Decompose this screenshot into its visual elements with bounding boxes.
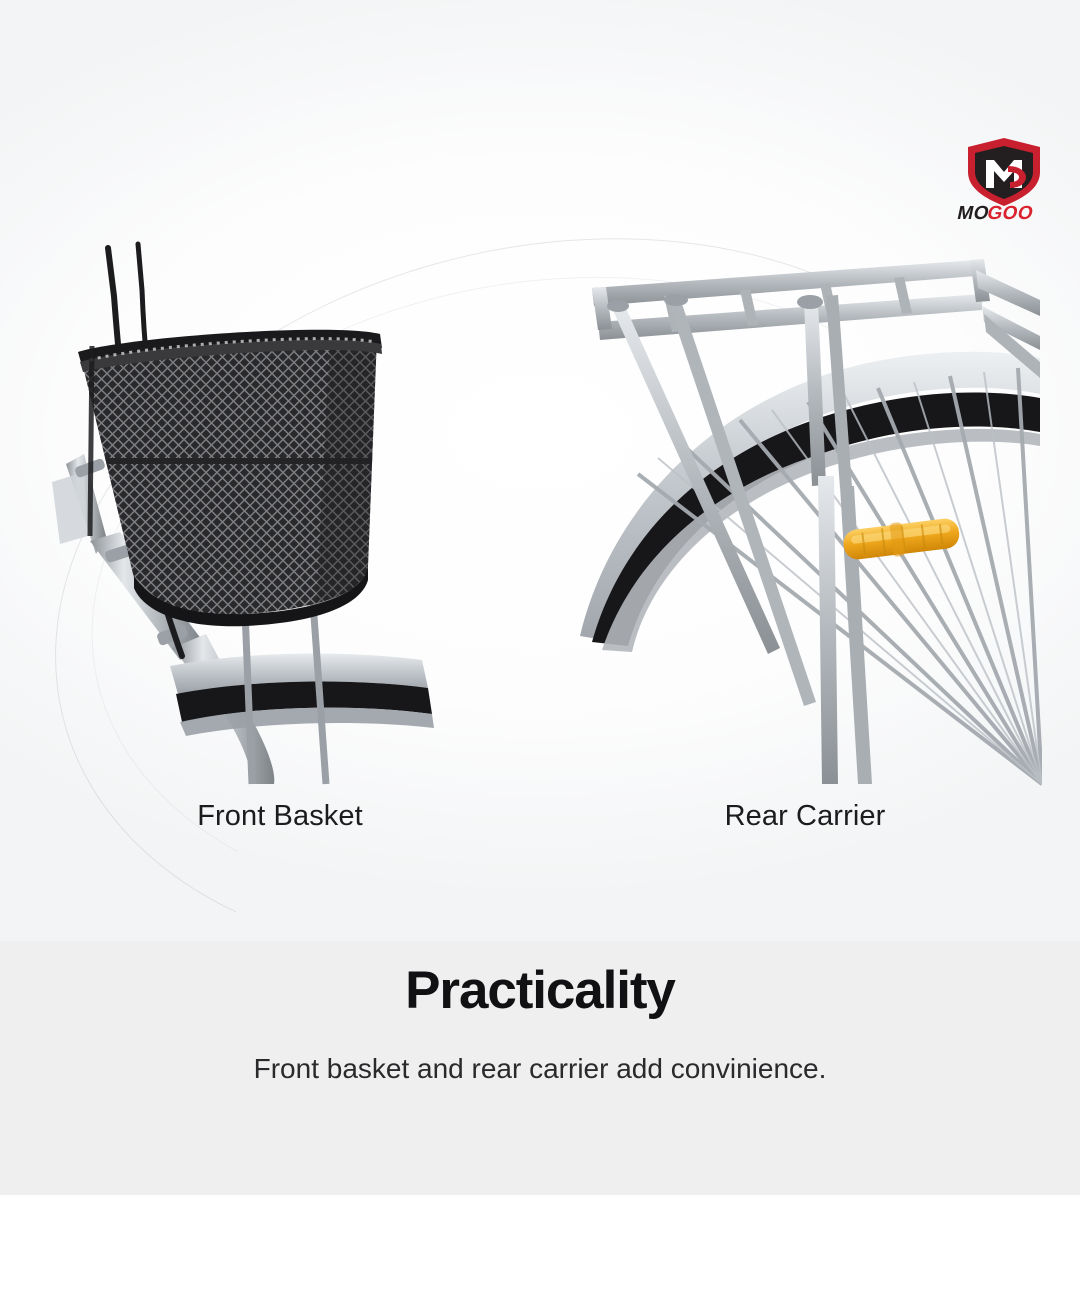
promo-subhead: Front basket and rear carrier add convin… [230,1049,850,1089]
front-basket-photo [30,236,500,796]
promo-headline: Practicality [0,963,1080,1019]
rear-carrier-photo [572,236,1042,796]
product-panel-rear-carrier [572,236,1042,796]
product-panel-front-basket [30,236,500,796]
hero-section: MO GOO [0,0,1080,941]
marketing-banner: MO GOO [0,0,1080,1309]
caption-rear-carrier: Rear Carrier [570,800,1040,833]
mogoo-shield-logo: MO GOO [948,136,1060,222]
caption-front-basket: Front Basket [45,800,515,833]
svg-text:GOO: GOO [985,203,1035,222]
footer-spacer [0,1195,1080,1309]
promo-band: Practicality Front basket and rear carri… [0,941,1080,1195]
